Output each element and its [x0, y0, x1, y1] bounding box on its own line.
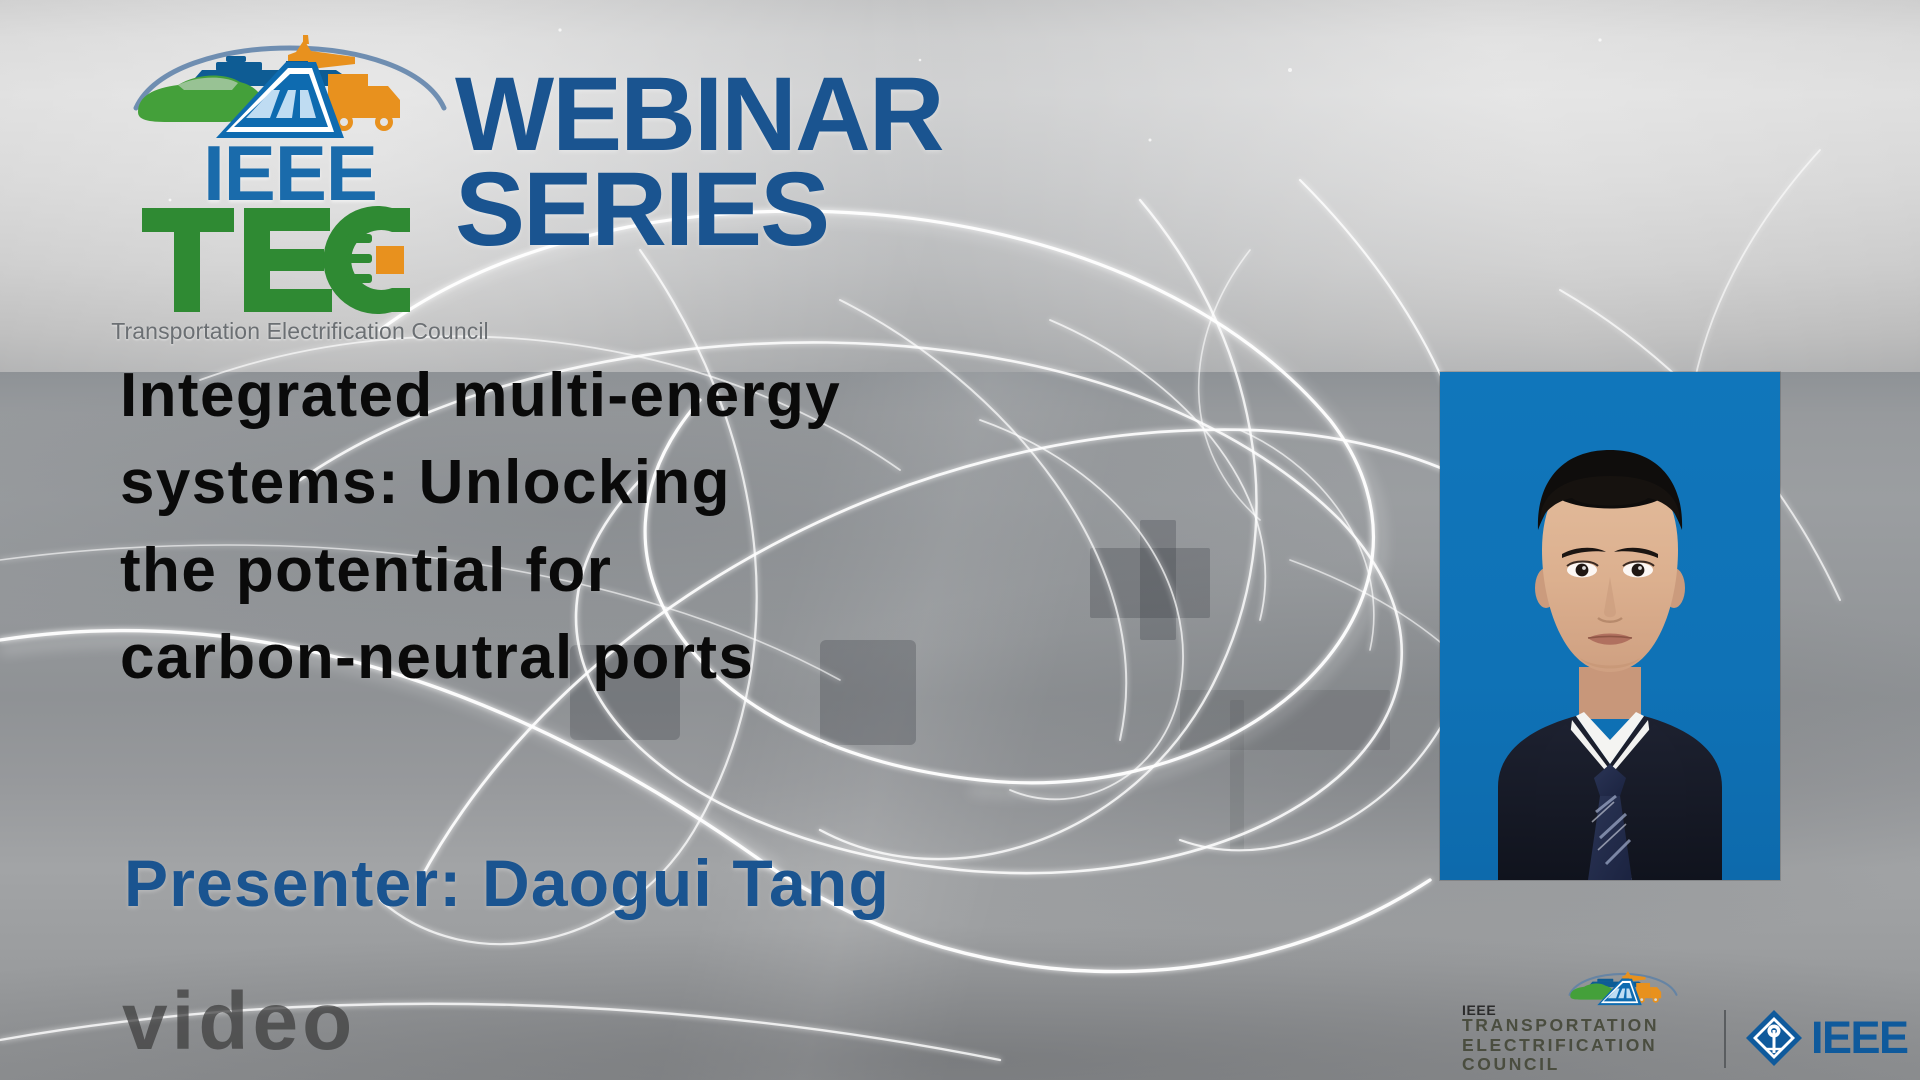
footer-divider: [1724, 1010, 1726, 1068]
footer-org-line-3: COUNCIL: [1462, 1055, 1659, 1075]
speaker-photo: [1440, 372, 1780, 880]
footer-ieee-tec-logo: IEEE TRANSPORTATION ELECTRIFICATION COUN…: [1448, 960, 1910, 1072]
title-line-3: the potential for: [120, 527, 1420, 614]
presentation-title: Integrated multi-energy systems: Unlocki…: [120, 352, 1420, 702]
footer-ieee-block: IEEE: [1744, 1008, 1908, 1068]
webinar-line-2: SERIES: [455, 163, 1215, 258]
title-line-1: Integrated multi-energy: [120, 352, 1420, 439]
ieee-diamond-icon: [1744, 1008, 1804, 1068]
footer-org-name: TRANSPORTATION ELECTRIFICATION COUNCIL: [1462, 1016, 1659, 1075]
footer-org-line-2: ELECTRIFICATION: [1462, 1036, 1659, 1056]
ieee-tec-logo: IEEE Transportation Electrification Coun…: [90, 8, 490, 338]
title-line-2: systems: Unlocking: [120, 439, 1420, 526]
video-watermark: video: [122, 975, 356, 1069]
footer-vehicle-icons: [1564, 960, 1682, 1008]
title-line-4: carbon-neutral ports: [120, 614, 1420, 701]
webinar-series-heading: WEBINAR SERIES: [455, 68, 1215, 257]
truck-icon: [328, 74, 400, 131]
speaker-photo-image: [1440, 372, 1780, 880]
slide-canvas: IEEE Transportation Electrification Coun…: [0, 0, 1920, 1080]
tec-logo-ieee-text: IEEE: [90, 136, 490, 210]
presenter-name: Presenter: Daogui Tang: [124, 845, 890, 921]
tec-logo-subtitle: Transportation Electrification Council: [90, 318, 510, 345]
tec-vehicle-icons: [120, 12, 460, 142]
tec-logo-tec-text: [90, 204, 490, 316]
footer-org-line-1: TRANSPORTATION: [1462, 1016, 1659, 1036]
ieee-wordmark: IEEE: [1811, 1012, 1908, 1064]
footer-tec-block: IEEE TRANSPORTATION ELECTRIFICATION COUN…: [1448, 960, 1718, 1072]
